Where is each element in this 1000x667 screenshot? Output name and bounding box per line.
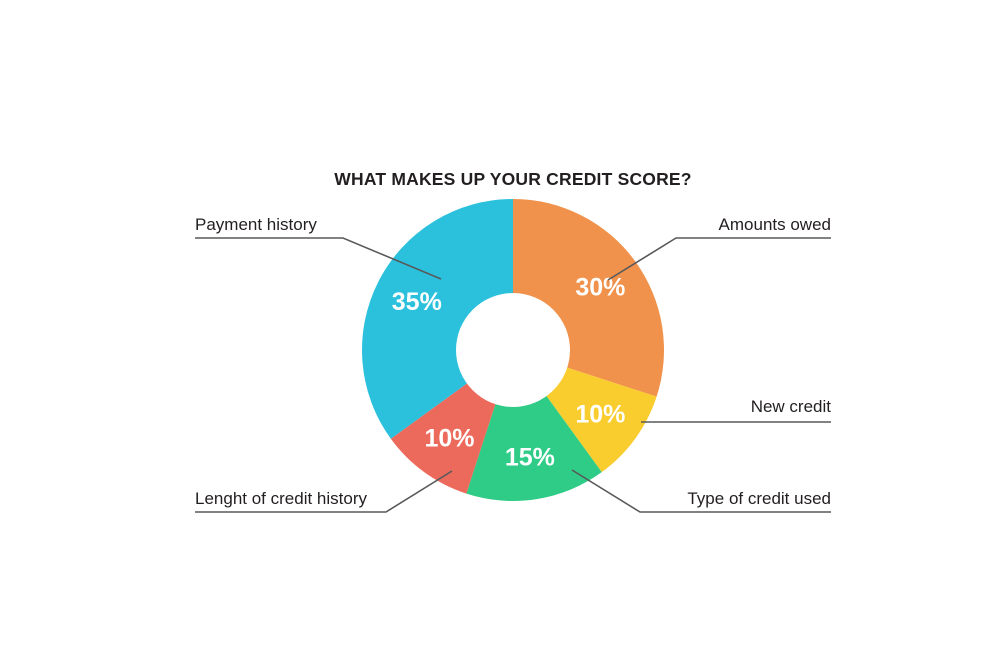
callout-label-amounts-owed: Amounts owed — [719, 215, 831, 234]
slice-value-label: 15% — [505, 444, 555, 472]
callout-label-lenght-of-credit-history: Lenght of credit history — [195, 489, 367, 508]
slice-value-label: 10% — [424, 424, 474, 452]
callout-label-payment-history: Payment history — [195, 215, 317, 234]
callout-label-type-of-credit-used: Type of credit used — [687, 489, 831, 508]
slice-value-label: 35% — [392, 288, 442, 316]
slice-value-label: 10% — [575, 401, 625, 429]
chart-title: WHAT MAKES UP YOUR CREDIT SCORE? — [334, 169, 691, 189]
callout-label-new-credit: New credit — [751, 397, 832, 416]
donut-hole — [456, 293, 570, 407]
slice-value-label: 30% — [575, 274, 625, 302]
credit-score-donut-chart: WHAT MAKES UP YOUR CREDIT SCORE? 30%10%1… — [0, 0, 1000, 667]
